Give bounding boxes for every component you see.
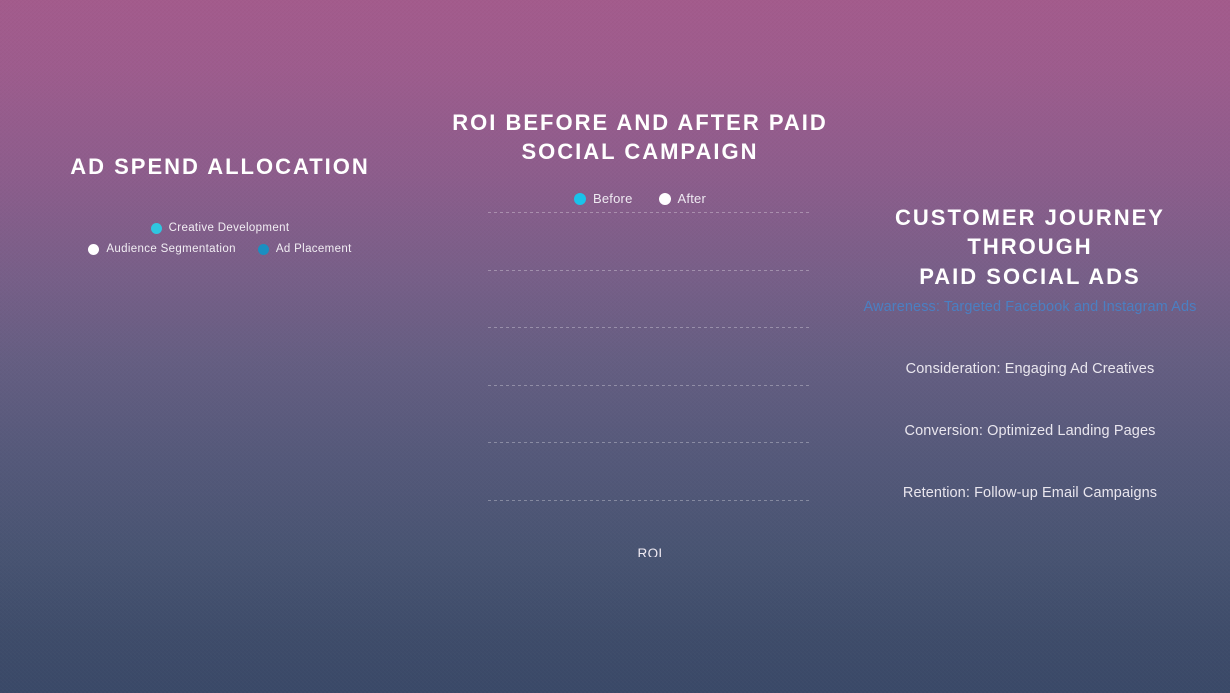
legend-swatch-creative-development (151, 223, 162, 234)
journey-title-line2: PAID SOCIAL ADS (919, 264, 1141, 289)
x-axis-label-text: ROI (488, 546, 812, 557)
bar-chart-title-line2: SOCIAL CAMPAIGN (522, 139, 759, 164)
gridline-50: 50 (488, 500, 812, 501)
legend-swatch-ad-placement (258, 244, 269, 255)
gridline-100: 100 (488, 442, 812, 443)
gridline-250: 250 (488, 270, 812, 271)
legend-item-ad-placement[interactable]: Ad Placement (258, 243, 352, 255)
pie-legend-row-2: Audience Segmentation Ad Placement (0, 243, 440, 255)
gridline-150: 150 (488, 385, 812, 386)
legend-item-after[interactable]: After (659, 191, 706, 206)
x-axis-label: ROI (488, 540, 812, 557)
gridline-300: 300 (488, 212, 812, 213)
legend-label-ad-placement: Ad Placement (276, 243, 352, 255)
journey-step-list: Awareness: Targeted Facebook and Instagr… (860, 298, 1200, 545)
bar-chart-title-line1: ROI BEFORE AND AFTER PAID (452, 110, 828, 135)
gridline-200: 200 (488, 327, 812, 328)
roi-bar-chart-panel: ROI BEFORE AND AFTER PAID SOCIAL CAMPAIG… (420, 0, 860, 693)
slide-canvas: AD SPEND ALLOCATION Creative Development… (0, 0, 1230, 693)
legend-label-before: Before (593, 191, 633, 206)
legend-label-audience-segmentation: Audience Segmentation (106, 243, 235, 255)
pie-chart-plot-area (40, 285, 400, 585)
journey-step-retention: Retention: Follow-up Email Campaigns (860, 484, 1200, 503)
legend-swatch-audience-segmentation (88, 244, 99, 255)
pie-legend-row-1: Creative Development (0, 222, 440, 234)
customer-journey-panel: CUSTOMER JOURNEY THROUGH PAID SOCIAL ADS… (830, 0, 1230, 693)
bar-chart-plot-area: 050100150200250300 (488, 212, 812, 557)
bar-chart-legend: Before After (420, 191, 860, 206)
legend-item-before[interactable]: Before (574, 191, 633, 206)
legend-swatch-after (659, 193, 671, 205)
journey-title: CUSTOMER JOURNEY THROUGH PAID SOCIAL ADS (835, 203, 1225, 291)
journey-step-awareness: Awareness: Targeted Facebook and Instagr… (860, 298, 1200, 317)
pie-chart-legend: Creative Development Audience Segmentati… (0, 222, 440, 264)
journey-title-line1: CUSTOMER JOURNEY THROUGH (895, 205, 1165, 259)
journey-step-conversion: Conversion: Optimized Landing Pages (860, 422, 1200, 441)
bar-chart-title: ROI BEFORE AND AFTER PAID SOCIAL CAMPAIG… (430, 108, 850, 167)
legend-item-creative-development[interactable]: Creative Development (151, 222, 290, 234)
ad-spend-allocation-panel: AD SPEND ALLOCATION Creative Development… (0, 0, 440, 693)
pie-chart-title: AD SPEND ALLOCATION (0, 152, 440, 181)
legend-item-audience-segmentation[interactable]: Audience Segmentation (88, 243, 235, 255)
legend-label-creative-development: Creative Development (169, 222, 290, 234)
legend-swatch-before (574, 193, 586, 205)
journey-step-consideration: Consideration: Engaging Ad Creatives (860, 360, 1200, 379)
legend-label-after: After (678, 191, 706, 206)
